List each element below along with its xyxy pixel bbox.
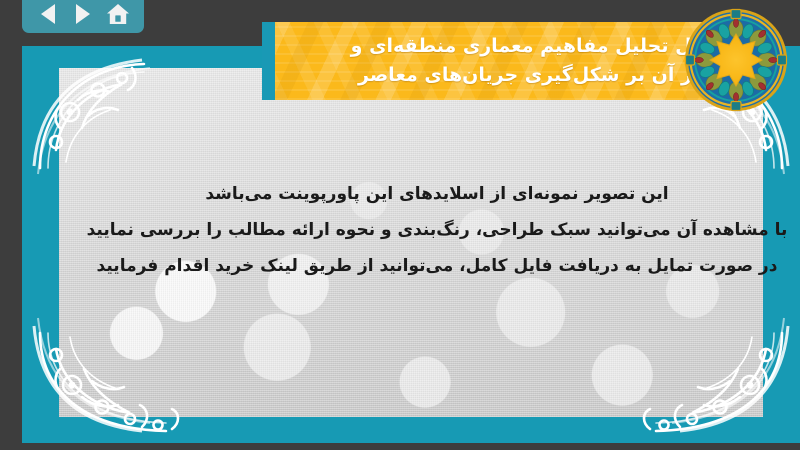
title-line-2: تأثیر آن بر شکل‌گیری جریان‌های معاصر (358, 61, 722, 90)
slide-body-text: این تصویر نمونه‌ای از اسلایدهای این پاور… (82, 181, 792, 289)
home-button[interactable] (103, 1, 133, 27)
banner-left-edge (262, 22, 275, 100)
body-line-2: با مشاهده آن می‌توانید سبک طراحی، رنگ‌بن… (82, 217, 792, 243)
banner-body: کامل تحلیل مفاهیم معماری منطقه‌ای و تأثی… (275, 22, 736, 100)
slide-title-banner: کامل تحلیل مفاهیم معماری منطقه‌ای و تأثی… (262, 22, 736, 100)
body-line-3: در صورت تمایل به دریافت فایل کامل، می‌تو… (82, 253, 792, 279)
slide-navigation-bar[interactable] (22, 0, 144, 33)
home-icon (106, 3, 130, 25)
screen: این تصویر نمونه‌ای از اسلایدهای این پاور… (0, 0, 800, 450)
persian-medallion-ornament (684, 8, 788, 112)
previous-slide-button[interactable] (33, 1, 63, 27)
title-line-1: کامل تحلیل مفاهیم معماری منطقه‌ای و (351, 32, 722, 61)
next-slide-button[interactable] (68, 1, 98, 27)
triangle-left-icon (41, 4, 55, 24)
body-line-1: این تصویر نمونه‌ای از اسلایدهای این پاور… (82, 181, 792, 207)
triangle-right-icon (76, 4, 90, 24)
